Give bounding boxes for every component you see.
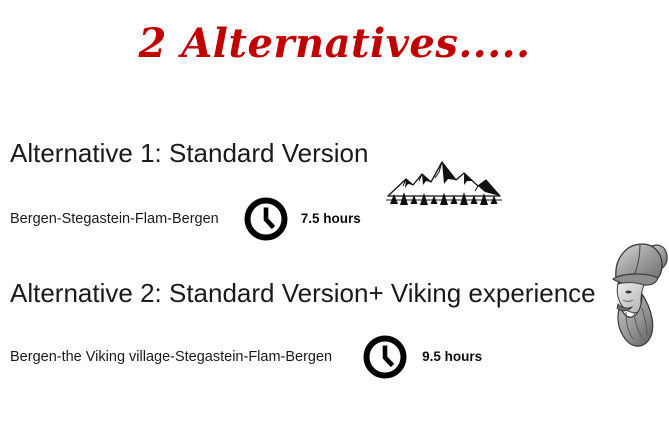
alternative-1-route-row: Bergen-Stegastein-Flam-Bergen 7.5 hours	[10, 196, 361, 242]
clock-icon	[362, 334, 408, 380]
alternative-1-duration: 7.5 hours	[301, 210, 361, 228]
alternative-2-route-row: Bergen-the Viking village-Stegastein-Fla…	[10, 334, 482, 380]
mountain-range-icon	[386, 148, 502, 208]
slide-canvas: 2 Alternatives..... Alternative 1: Stand…	[0, 0, 669, 446]
alternative-1-route-text: Bergen-Stegastein-Flam-Bergen	[10, 210, 219, 228]
clock-icon	[243, 196, 289, 242]
alternative-2-duration: 9.5 hours	[422, 348, 482, 366]
page-title: 2 Alternatives.....	[0, 22, 669, 66]
viking-head-icon	[596, 232, 669, 352]
alternative-1-heading: Alternative 1: Standard Version	[10, 138, 368, 168]
alternative-1-clock-wrap	[243, 196, 289, 242]
alternative-2-clock-wrap	[362, 334, 408, 380]
alternative-2-route-text: Bergen-the Viking village-Stegastein-Fla…	[10, 348, 332, 366]
alternative-2-heading: Alternative 2: Standard Version+ Viking …	[10, 278, 596, 308]
